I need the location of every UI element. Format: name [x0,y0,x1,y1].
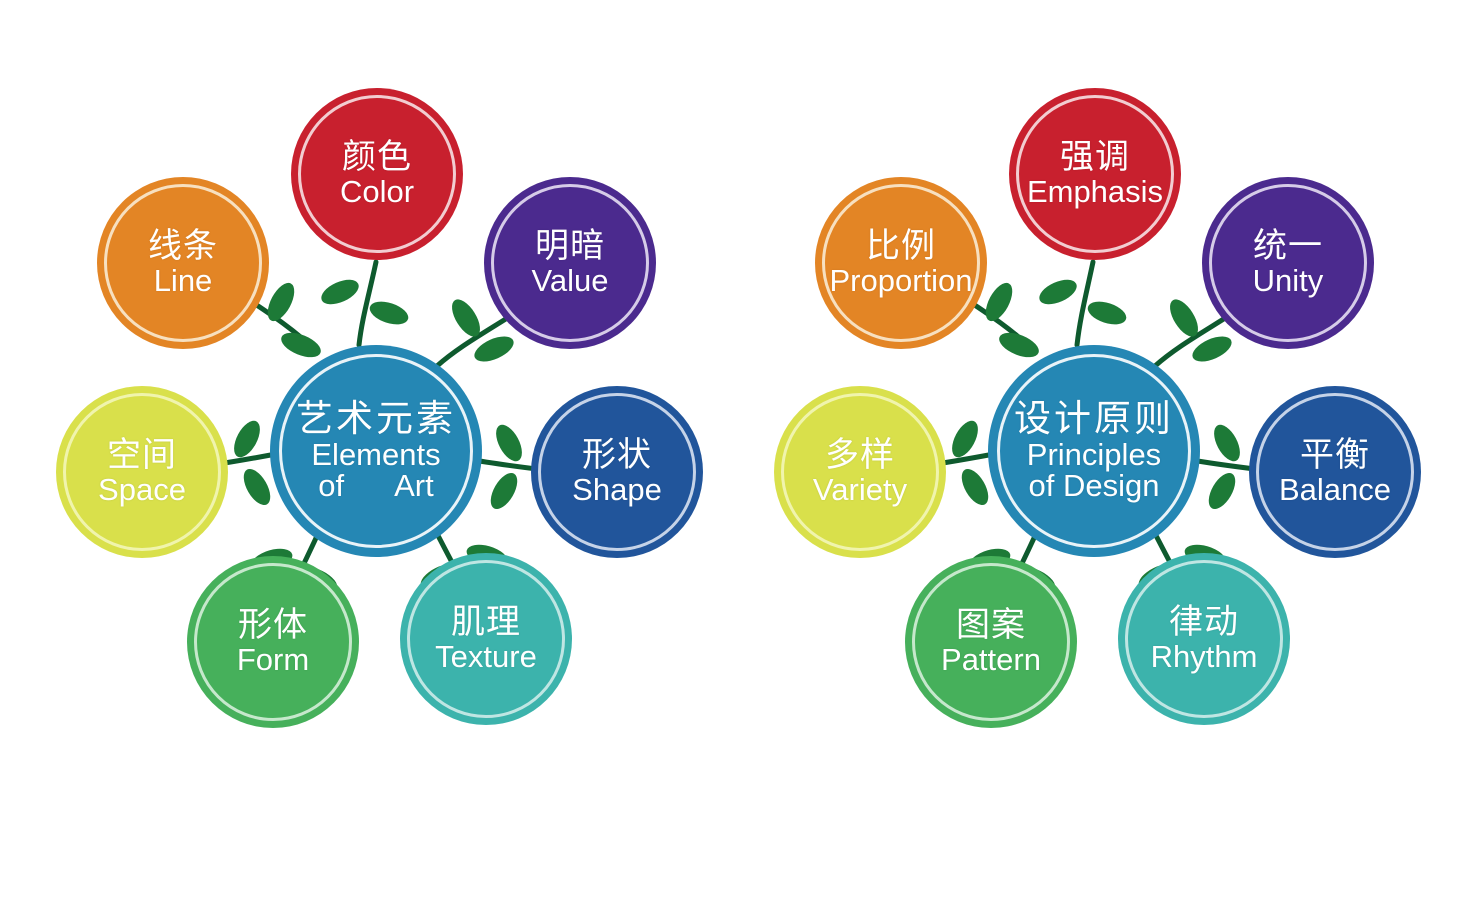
node-space[interactable]: 空间 Space [56,386,228,558]
node-emphasis[interactable]: 强调 Emphasis [1009,88,1181,260]
node-label-cn: 统一 [1253,229,1323,264]
node-unity[interactable]: 统一 Unity [1202,177,1374,349]
node-line[interactable]: 线条 Line [97,177,269,349]
node-label-en: Pattern [941,644,1041,676]
hub-principles-of-design[interactable]: 设计原则 Principles of Design [988,345,1200,557]
node-pattern[interactable]: 图案 Pattern [905,556,1077,728]
cluster-elements-of-art: 艺术元素 Elements of Art 颜色 Color 线条 Line 明暗… [0,0,729,912]
hub-label-en-line1: Elements [311,439,440,470]
node-label-cn: 形状 [582,438,652,473]
node-label-cn: 明暗 [535,229,605,264]
node-label-cn: 律动 [1169,605,1239,640]
node-label-en: Rhythm [1151,641,1258,673]
node-label-cn: 空间 [107,438,177,473]
node-rhythm[interactable]: 律动 Rhythm [1118,553,1290,725]
node-label-cn: 形体 [238,608,308,643]
node-variety[interactable]: 多样 Variety [774,386,946,558]
node-color[interactable]: 颜色 Color [291,88,463,260]
node-shape[interactable]: 形状 Shape [531,386,703,558]
node-label-en: Form [237,644,309,676]
node-label-cn: 线条 [148,229,218,264]
node-label-en: Color [340,176,414,208]
cluster-principles-of-design: 设计原则 Principles of Design 强调 Emphasis 比例… [723,0,1452,912]
hub-label-en-line2: of Art [318,470,433,503]
node-label-en: Unity [1253,265,1324,297]
node-label-en: Value [532,265,609,297]
node-label-cn: 平衡 [1300,438,1370,473]
node-label-en: Balance [1279,474,1391,506]
node-label-en: Variety [813,474,907,506]
node-label-cn: 肌理 [451,605,521,640]
node-label-cn: 强调 [1060,140,1130,175]
node-label-en: Shape [572,474,662,506]
node-label-cn: 比例 [866,229,936,264]
hub-elements-of-art[interactable]: 艺术元素 Elements of Art [270,345,482,557]
hub-label-cn: 设计原则 [1014,400,1174,438]
node-label-cn: 颜色 [342,140,412,175]
node-form[interactable]: 形体 Form [187,556,359,728]
node-balance[interactable]: 平衡 Balance [1249,386,1421,558]
node-texture[interactable]: 肌理 Texture [400,553,572,725]
hub-label-en-line2: of Design [1029,470,1160,503]
node-label-en: Texture [435,641,537,673]
hub-label-cn: 艺术元素 [296,400,456,438]
node-label-cn: 图案 [956,608,1026,643]
node-value[interactable]: 明暗 Value [484,177,656,349]
node-label-cn: 多样 [825,438,895,473]
node-label-en: Emphasis [1027,176,1163,208]
node-label-en: Proportion [829,265,972,297]
hub-label-en-line1: Principles [1027,439,1161,470]
node-label-en: Line [154,265,213,297]
node-label-en: Space [98,474,186,506]
diagram-canvas: 艺术元素 Elements of Art 颜色 Color 线条 Line 明暗… [0,0,1459,912]
node-proportion[interactable]: 比例 Proportion [815,177,987,349]
